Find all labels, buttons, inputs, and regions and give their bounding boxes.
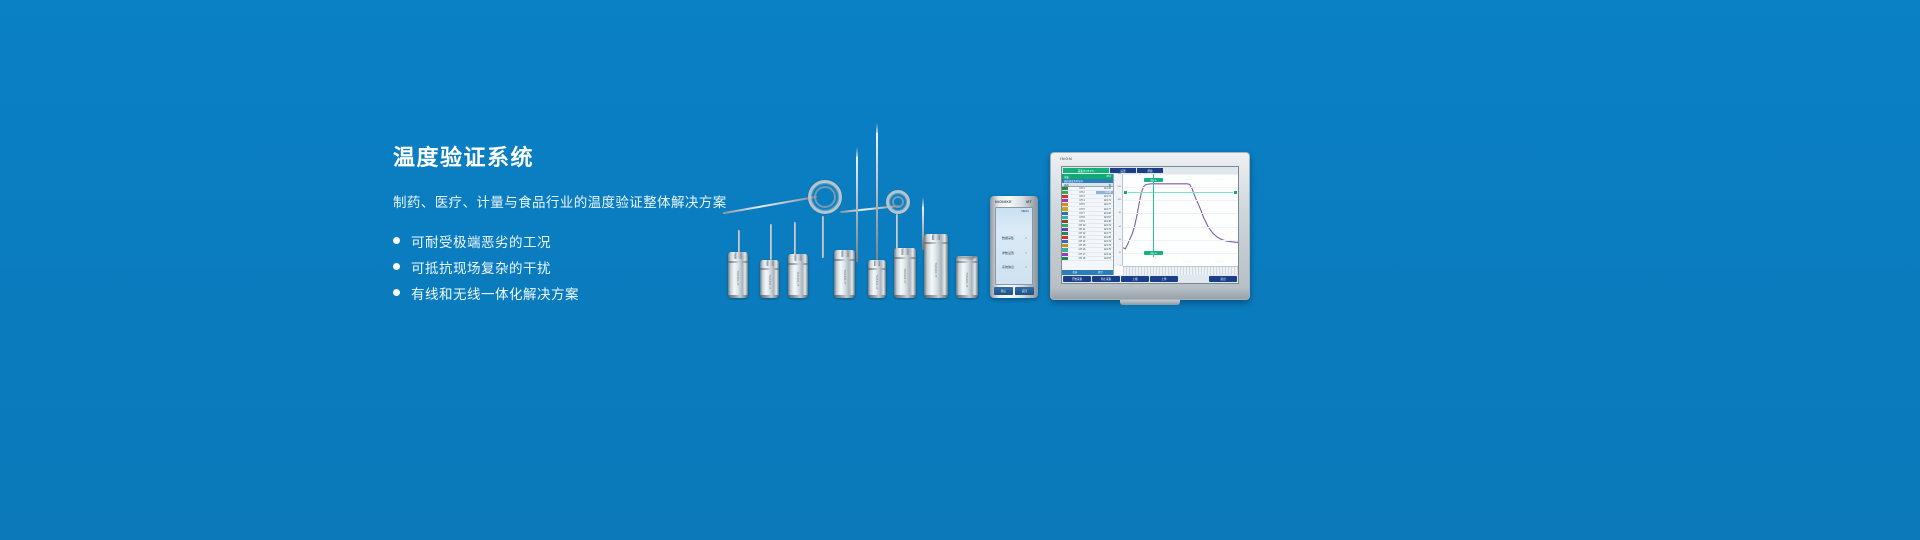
lcd-title: MENU (1021, 210, 1029, 213)
channel-value: 124.42 (1096, 187, 1113, 190)
coiled-sensor-icon (886, 190, 910, 214)
channel-name: CH 14 (1068, 240, 1096, 243)
data-logger: TRACK-IT (834, 250, 855, 298)
channel-name: CH 7 (1068, 212, 1096, 215)
y-tick-label: 100 (1117, 199, 1121, 201)
reader-key-confirm[interactable]: 确认 (994, 287, 1013, 295)
probe-needle-icon (876, 132, 878, 262)
grid-line (1123, 174, 1238, 175)
validation-software-screen[interactable]: 采集中 25.0℃ 设置 帮助 采集 25.0 通道温度实时显示 (1061, 166, 1239, 284)
channel-name: CH 3 (1068, 195, 1096, 198)
sensor-wire (723, 196, 818, 215)
chart-annotation: — — — (1215, 261, 1223, 263)
y-tick-label: 0 (1120, 265, 1121, 267)
software-bottom-toolbar[interactable]: 开始采集 停止采集 上报 上传 退出 (1062, 275, 1238, 283)
data-logger: TRACK-IT (924, 234, 948, 298)
channel-value: 124.77 (1096, 208, 1113, 211)
report-button[interactable]: 上报 (1121, 276, 1149, 282)
chart-y-axis: 020406080100120140 (1114, 174, 1123, 266)
channel-value: 124.45 (1096, 236, 1113, 239)
y-tick-label: 20 (1119, 252, 1121, 254)
grid-line (1123, 187, 1238, 188)
feature-text: 可抵抗现场复杂的干扰 (411, 257, 551, 277)
channel-value: 11.95 (1096, 191, 1113, 194)
bullet-dot-icon (393, 237, 400, 244)
start-acquire-button[interactable]: 开始采集 (1063, 276, 1091, 282)
reader-brand-left: INONIKE (995, 200, 1012, 204)
data-logger: TRACK-IT (868, 260, 886, 298)
lcd-menu-label: 参数设置 (1002, 251, 1014, 255)
feature-text: 可耐受极端恶劣的工况 (411, 231, 551, 251)
channel-name: CH 4 (1068, 199, 1096, 202)
panel-pc-monitor[interactable]: INON 采集中 25.0℃ 设置 帮助 采集 25.0 (1050, 152, 1250, 300)
y-tick-label: 120 (1117, 186, 1121, 188)
threshold-handle-left[interactable] (1123, 190, 1128, 195)
table-header-label: 采集 (1064, 175, 1069, 179)
y-tick-label: 40 (1119, 239, 1121, 241)
grid-line (1123, 200, 1238, 201)
grid-line (1123, 240, 1238, 241)
channel-data-table[interactable]: 采集 25.0 通道温度实时显示 通道 值 CH 1124.42CH 211.9… (1062, 174, 1114, 275)
monitor-brand-logo: INON (1060, 156, 1072, 161)
channel-value: 124.46 (1096, 212, 1113, 215)
threshold-handle-right[interactable] (1233, 190, 1238, 195)
sensor-wire (822, 216, 824, 258)
probe-needle-icon (856, 156, 858, 262)
channel-name: CH 11 (1068, 228, 1096, 231)
coiled-sensor-icon (808, 180, 842, 214)
lcd-menu-row[interactable]: 系统信息 > (1002, 265, 1027, 269)
upload-button[interactable]: 上传 (1150, 276, 1178, 282)
hero-banner: 温度验证系统 制药、医疗、计量与食品行业的温度验证整体解决方案 可耐受极端恶劣的… (0, 0, 1920, 540)
channel-name: CH 17 (1068, 253, 1096, 256)
channel-value: 124.75 (1096, 248, 1113, 251)
toolbar-help-button[interactable]: 帮助 (1137, 168, 1163, 173)
channel-name: CH 13 (1068, 236, 1096, 239)
software-top-toolbar[interactable]: 采集中 25.0℃ 设置 帮助 (1062, 167, 1238, 174)
chart-threshold-line[interactable] (1123, 192, 1238, 193)
data-logger: TRACK-IT (788, 254, 808, 298)
reader-lcd-screen: MENU 数据采集 > 参数设置 > 系统信息 > (995, 207, 1033, 285)
data-logger: TRACK-IT (728, 252, 748, 298)
channel-name: CH 18 (1068, 257, 1096, 260)
channel-value: 124.77 (1096, 232, 1113, 235)
bullet-dot-icon (393, 263, 400, 270)
channel-name: CH 9 (1068, 220, 1096, 223)
channel-name: CH 15 (1068, 244, 1096, 247)
cursor-label-top: 光标 A (1144, 178, 1163, 182)
chart-annotation: — — — (1215, 179, 1223, 181)
toolbar-spacer (1179, 276, 1208, 282)
grid-line (1123, 253, 1238, 254)
cursor-label-bottom: 光标 B (1144, 251, 1163, 255)
toolbar-settings-button[interactable]: 设置 (1110, 168, 1136, 173)
chart-x-axis (1123, 266, 1238, 275)
y-tick-label: 80 (1119, 212, 1121, 214)
sensor-wire (770, 224, 772, 260)
stop-acquire-button[interactable]: 停止采集 (1092, 276, 1120, 282)
monitor-stand (1120, 300, 1180, 305)
lcd-menu-row[interactable]: 参数设置 > (1002, 251, 1027, 255)
channel-name: CH 12 (1068, 232, 1096, 235)
product-photo: TRACK-IT TRACK-IT TRACK-IT TRACK-IT TRAC… (700, 120, 1260, 320)
chevron-right-icon: > (1025, 251, 1027, 255)
chart-annotation: — — — (1183, 261, 1191, 263)
table-header-value: 25.0 (1106, 175, 1111, 178)
grid-line (1123, 227, 1238, 228)
bullet-dot-icon (393, 289, 400, 296)
reader-key-back[interactable]: 返回 (1015, 287, 1034, 295)
handheld-reader-device[interactable]: INONIKE MT MENU 数据采集 > 参数设置 > 系统信息 > 确认 (990, 196, 1038, 298)
exit-button[interactable]: 退出 (1209, 276, 1237, 282)
data-logger: TRACK-IT (760, 260, 779, 298)
y-tick-label: 140 (1117, 173, 1121, 175)
channel-value: 124.71 (1096, 195, 1113, 198)
lcd-menu-label: 数据采集 (1002, 236, 1014, 240)
y-tick-label: 60 (1119, 226, 1121, 228)
channel-value: 124.57 (1096, 216, 1113, 219)
column-header-channel: 通道 (1064, 183, 1069, 187)
grid-line (1123, 213, 1238, 214)
channel-value: 124.46 (1096, 220, 1113, 223)
channel-value: 124.72 (1096, 228, 1113, 231)
channel-value: 124.71 (1096, 199, 1113, 202)
channel-name: CH 6 (1068, 208, 1096, 211)
chart-annotation: — — — (1183, 179, 1191, 181)
lcd-menu-row[interactable]: 数据采集 > (1002, 236, 1027, 240)
channel-value: 124.73 (1096, 244, 1113, 247)
column-header-value: 值 (1109, 183, 1111, 187)
feature-text: 有线和无线一体化解决方案 (411, 283, 579, 303)
reader-keypad[interactable]: 确认 返回 (994, 287, 1034, 295)
channel-name: CH 10 (1068, 224, 1096, 227)
data-logger: TRACK-IT (894, 248, 916, 298)
channel-value: 124.74 (1096, 240, 1113, 243)
lcd-menu-label: 系统信息 (1002, 265, 1014, 269)
table-body[interactable]: CH 1124.42CH 211.95CH 3124.71CH 4124.71C… (1062, 187, 1113, 270)
channel-name: CH 1 (1068, 187, 1096, 190)
table-row[interactable]: CH 18124.57 (1062, 257, 1113, 261)
channel-name: CH 8 (1068, 216, 1096, 219)
channel-name: CH 2 (1068, 191, 1096, 194)
channel-value: 124.44 (1096, 253, 1113, 256)
channel-name: CH 5 (1068, 203, 1096, 206)
channel-value: 124.74 (1096, 224, 1113, 227)
chart-plot-area: 光标 A 光标 B — — — — — — — — — — — — (1123, 174, 1238, 266)
chevron-right-icon: > (1025, 236, 1027, 240)
reader-brand-right: MT (1026, 200, 1032, 204)
chevron-right-icon: > (1025, 265, 1027, 269)
channel-value: 124.57 (1096, 257, 1113, 260)
chart-vertical-cursor[interactable]: 光标 A 光标 B (1153, 174, 1154, 257)
status-badge: 采集中 25.0℃ (1063, 168, 1109, 173)
temperature-chart[interactable]: 020406080100120140 光标 A 光标 B (1114, 174, 1238, 275)
data-logger: TRACK-IT (956, 256, 978, 298)
channel-value: 124.77 (1096, 203, 1113, 206)
channel-name: CH 16 (1068, 248, 1096, 251)
toolbar-spacer (1164, 168, 1237, 173)
